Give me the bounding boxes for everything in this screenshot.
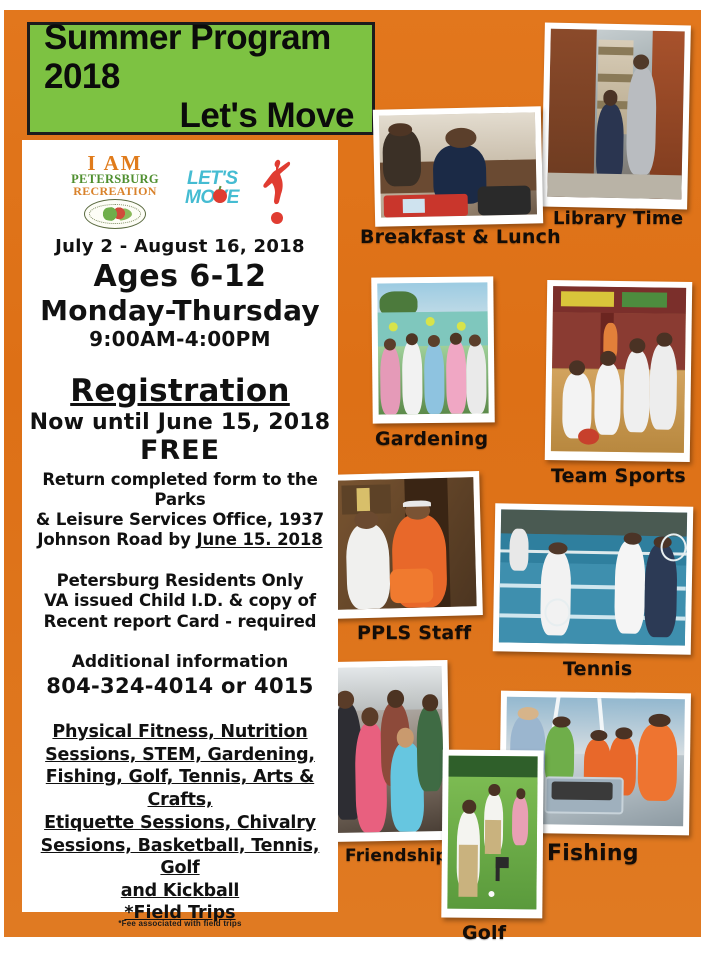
requirement-line-1: Petersburg Residents Only	[57, 571, 304, 590]
photo-ppls-staff	[324, 471, 483, 619]
logo-line-move: MOVE	[185, 187, 239, 209]
i-am-petersburg-recreation-logo: I AM PETERSBURG RECREATION	[63, 153, 167, 229]
photo-caption-library-time: Library Time	[553, 208, 683, 229]
photo-caption-golf: Golf	[462, 922, 506, 944]
photo-team-sports	[545, 280, 692, 462]
exclamation-dot-icon	[271, 212, 283, 224]
program-ages: Ages 6-12	[28, 259, 332, 294]
requirement-line-2: VA issued Child I.D. & copy of	[44, 591, 316, 610]
activities-line-6: and Kickball	[28, 880, 332, 903]
return-line-2: & Leisure Services Office, 1937	[36, 510, 324, 529]
logo-line-recreation: RECREATION	[73, 185, 156, 197]
photo-breakfast-lunch	[373, 106, 543, 226]
jumping-figure-icon	[261, 158, 291, 206]
activities-line-2: Sessions, STEM, Gardening,	[28, 744, 332, 767]
photo-caption-fishing: Fishing	[547, 841, 639, 866]
registration-cost: FREE	[28, 435, 332, 466]
return-deadline-date: June 15. 2018	[196, 530, 322, 549]
fee-footnote: *Fee associated with field trips	[22, 919, 338, 928]
photo-caption-ppls-staff: PPLS Staff	[357, 622, 471, 644]
photo-image-golf	[447, 756, 537, 910]
activities-list: Physical Fitness, Nutrition Sessions, ST…	[28, 721, 332, 903]
activities-line-5: Sessions, Basketball, Tennis, Golf	[28, 835, 332, 881]
return-instructions: Return completed form to the Parks & Lei…	[28, 470, 332, 551]
photo-library-time	[541, 22, 691, 209]
contact-phone[interactable]: 804-324-4014 or 4015	[28, 674, 332, 699]
photo-caption-tennis: Tennis	[563, 658, 632, 680]
return-line-3-prefix: Johnson Road by	[37, 530, 196, 549]
info-panel: I AM PETERSBURG RECREATION LET'S MOVE Ju…	[22, 140, 338, 912]
page-title-line-2: Let's Move	[44, 96, 358, 135]
page-title-line-1: Summer Program 2018	[44, 18, 358, 96]
requirements-block: Petersburg Residents Only VA issued Chil…	[28, 571, 332, 633]
logo-line-i-am: I AM	[87, 153, 142, 174]
photo-image-friendships	[332, 666, 445, 833]
photo-image-tennis	[499, 509, 687, 645]
activities-line-4: Etiquette Sessions, Chivalry	[28, 812, 332, 835]
petersburg-seal-icon	[84, 199, 146, 229]
program-hours: 9:00AM-4:00PM	[28, 327, 332, 351]
photo-image-library	[547, 29, 684, 200]
photo-image-team-sports	[551, 286, 686, 453]
photo-caption-gardening: Gardening	[375, 428, 488, 450]
requirement-line-3: Recent report Card - required	[44, 612, 317, 631]
activities-line-1: Physical Fitness, Nutrition	[28, 721, 332, 744]
photo-gardening	[371, 276, 495, 423]
registration-window: Now until June 15, 2018	[28, 410, 332, 435]
apple-icon	[213, 189, 227, 203]
registration-heading: Registration	[28, 373, 332, 409]
lets-move-logo: LET'S MOVE	[185, 156, 297, 226]
activities-line-3: Fishing, Golf, Tennis, Arts & Crafts,	[28, 766, 332, 812]
photo-tennis	[493, 503, 694, 654]
program-dates: July 2 - August 16, 2018	[28, 236, 332, 257]
photo-image-ppls-staff	[330, 477, 476, 610]
additional-information-label: Additional information	[28, 652, 332, 673]
photo-image-breakfast	[379, 112, 537, 217]
summer-program-flyer: Summer Program 2018 Let's Move Library T…	[0, 0, 706, 960]
program-days: Monday-Thursday	[28, 294, 332, 327]
photo-friendships	[325, 660, 450, 842]
photo-caption-breakfast-lunch: Breakfast & Lunch	[360, 226, 561, 248]
photo-image-gardening	[377, 282, 488, 414]
photo-golf	[441, 750, 543, 919]
return-line-1: Return completed form to the Parks	[42, 470, 317, 509]
logo-row: I AM PETERSBURG RECREATION LET'S MOVE	[28, 152, 332, 230]
photo-caption-team-sports: Team Sports	[551, 465, 686, 487]
title-banner: Summer Program 2018 Let's Move	[27, 22, 375, 135]
